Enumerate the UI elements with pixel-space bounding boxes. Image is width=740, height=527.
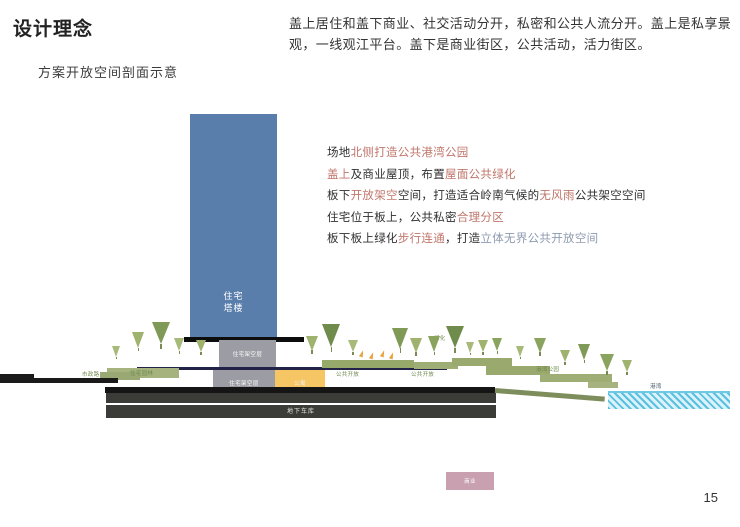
- section-diagram: 住宅 塔楼 住宅架空层 住宅架空层 公寓 商业: [0, 100, 740, 430]
- tree-trunk: [470, 353, 472, 356]
- activity-accent-icon: [359, 350, 365, 358]
- tree-crown: [410, 338, 422, 353]
- tree-crown: [560, 350, 570, 362]
- tower-label-line1: 住宅: [190, 290, 277, 302]
- tree-trunk: [520, 357, 522, 360]
- program-label: 公寓: [275, 379, 325, 387]
- tree-crown: [428, 336, 440, 352]
- tree-trunk: [160, 344, 162, 349]
- tree-crown: [478, 340, 488, 352]
- tree-icon: [478, 340, 488, 355]
- tree-crown: [306, 336, 318, 351]
- tree-crown: [622, 360, 632, 372]
- green-band-right-3: [588, 382, 618, 388]
- tree-trunk: [116, 357, 118, 360]
- tree-crown: [600, 354, 614, 371]
- tree-icon: [112, 346, 121, 360]
- tree-icon: [428, 336, 441, 356]
- page-number: 15: [704, 490, 718, 505]
- tree-trunk: [331, 347, 333, 353]
- tree-icon: [600, 354, 614, 375]
- tree-icon: [132, 332, 145, 352]
- underground-garage: 地下车库: [106, 393, 496, 421]
- green-band-mid-1: [322, 360, 414, 368]
- tree-icon: [348, 340, 358, 355]
- tree-trunk: [626, 372, 628, 375]
- tree-crown: [516, 346, 524, 357]
- right-slope-band: [495, 388, 605, 402]
- tree-icon: [392, 328, 409, 354]
- activity-accent-icon: [369, 352, 375, 360]
- label-residential-garden: 住宅园林: [130, 369, 153, 377]
- tree-trunk: [564, 362, 566, 365]
- tree-crown: [446, 326, 464, 348]
- tree-trunk: [454, 348, 456, 353]
- page-subtitle: 方案开放空间剖面示意: [38, 62, 178, 81]
- harbor-water: [608, 393, 730, 409]
- tree-icon: [446, 326, 464, 353]
- tree-crown: [392, 328, 408, 349]
- tree-icon: [196, 340, 206, 355]
- tree-trunk: [415, 352, 417, 356]
- residential-tower: 住宅 塔楼: [190, 114, 277, 337]
- garage-band-upper: [106, 393, 496, 403]
- tree-trunk: [200, 352, 202, 355]
- tree-crown: [492, 338, 502, 351]
- tree-crown: [196, 340, 206, 352]
- tower-label: 住宅 塔楼: [190, 290, 277, 314]
- tree-icon: [152, 322, 170, 349]
- label-public-open-2: 公共开放: [411, 370, 434, 378]
- tree-trunk: [434, 352, 436, 356]
- tree-crown: [112, 346, 120, 357]
- program-label: 商业: [446, 477, 494, 485]
- tree-icon: [622, 360, 632, 375]
- tree-crown: [322, 324, 340, 347]
- label-harbor-park: 港湾公园: [536, 365, 559, 373]
- green-band-right-2: [540, 374, 612, 382]
- tree-icon: [578, 344, 591, 364]
- tree-crown: [132, 332, 144, 348]
- tree-crown: [466, 342, 474, 353]
- activity-accent-icon: [389, 352, 395, 360]
- green-band-mid-3: [452, 358, 512, 366]
- tree-trunk: [311, 350, 313, 354]
- tower-label-line2: 塔楼: [190, 302, 277, 314]
- tree-crown: [348, 340, 358, 352]
- tree-trunk: [138, 348, 140, 352]
- tree-trunk: [400, 348, 402, 353]
- page-title: 设计理念: [13, 14, 93, 41]
- label-harbor: 港湾: [650, 382, 662, 390]
- program-label: 住宅架空层: [219, 350, 276, 358]
- municipal-road-line-upper: [0, 374, 34, 378]
- program-box-retail: 商业: [446, 472, 494, 490]
- tree-trunk: [584, 360, 586, 364]
- tree-icon: [174, 338, 185, 355]
- tree-icon: [322, 324, 341, 353]
- tree-trunk: [179, 351, 181, 354]
- tree-icon: [306, 336, 318, 354]
- tree-icon: [466, 342, 475, 356]
- tree-icon: [492, 338, 503, 355]
- label-public-open-1: 公共开放: [336, 370, 359, 378]
- municipal-road-line: [0, 378, 118, 383]
- slide-root: 设计理念 方案开放空间剖面示意 盖上居住和盖下商业、社交活动分开，私密和公共人流…: [0, 0, 740, 527]
- program-box-upper-void: 住宅架空层: [219, 340, 276, 367]
- tree-trunk: [497, 351, 499, 354]
- tree-crown: [152, 322, 170, 344]
- tree-crown: [174, 338, 184, 351]
- tree-trunk: [606, 371, 608, 375]
- tree-icon: [516, 346, 525, 360]
- tree-icon: [560, 350, 570, 365]
- tree-crown: [534, 338, 546, 353]
- activity-accent-icon: [380, 350, 386, 358]
- garage-label: 地下车库: [106, 406, 496, 415]
- tree-trunk: [539, 352, 541, 356]
- header-description: 盖上居住和盖下商业、社交活动分开，私密和公共人流分开。盖上是私享景观，一线观江平…: [289, 14, 735, 55]
- label-municipal-road: 市政路: [82, 370, 99, 378]
- tree-icon: [534, 338, 546, 356]
- tree-crown: [578, 344, 590, 360]
- program-label: 住宅架空层: [213, 379, 275, 387]
- tree-trunk: [352, 352, 354, 355]
- tree-trunk: [482, 352, 484, 355]
- tree-icon: [410, 338, 422, 356]
